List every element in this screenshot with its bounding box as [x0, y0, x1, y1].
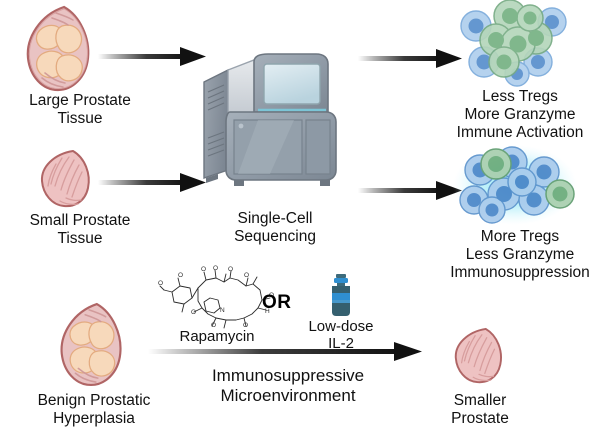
large-prostate-tissue-icon: [18, 4, 98, 94]
svg-text:O: O: [158, 280, 163, 287]
arrow-treatment-to-outcome: [148, 340, 424, 366]
suppressed-cells-caption: More Tregs Less Granzyme Immunosuppressi…: [437, 228, 600, 281]
outcome-prostate-caption: Smaller Prostate: [414, 392, 546, 428]
svg-text:O: O: [191, 309, 196, 316]
svg-text:O: O: [244, 272, 249, 279]
svg-text:O: O: [178, 272, 183, 279]
sequencer-machine-icon: [198, 52, 350, 200]
svg-text:O: O: [213, 265, 218, 272]
sequencer-caption: Single-Cell Sequencing: [200, 210, 350, 246]
arrow-small-tissue-to-sequencer: [98, 170, 208, 196]
bph-prostate-icon: [52, 300, 130, 390]
immunosuppressive-microenvironment-label: Immunosuppressive Microenvironment: [170, 366, 406, 406]
svg-text:N: N: [220, 307, 225, 314]
smaller-prostate-icon: [450, 326, 508, 386]
arrow-sequencer-to-activated-cells: [358, 46, 464, 72]
large-prostate-tissue-caption: Large Prostate Tissue: [0, 92, 160, 128]
small-prostate-tissue-caption: Small Prostate Tissue: [0, 212, 160, 248]
small-prostate-tissue-icon: [36, 148, 96, 210]
svg-text:O: O: [228, 266, 233, 273]
activated-cells-caption: Less Tregs More Granzyme Immune Activati…: [440, 88, 600, 141]
vial-icon: [327, 274, 355, 318]
immune-cell-cluster-green-icon: [460, 0, 570, 86]
immune-cell-cluster-blue-glow-icon: [452, 142, 578, 228]
bph-caption: Benign Prostatic Hyperplasia: [14, 392, 174, 428]
arrow-sequencer-to-suppressed-cells: [358, 178, 464, 204]
or-connector-label: OR: [262, 292, 292, 314]
figure-canvas: Large Prostate Tissue: [0, 0, 600, 440]
arrow-large-tissue-to-sequencer: [98, 44, 208, 70]
svg-text:O: O: [201, 266, 206, 273]
